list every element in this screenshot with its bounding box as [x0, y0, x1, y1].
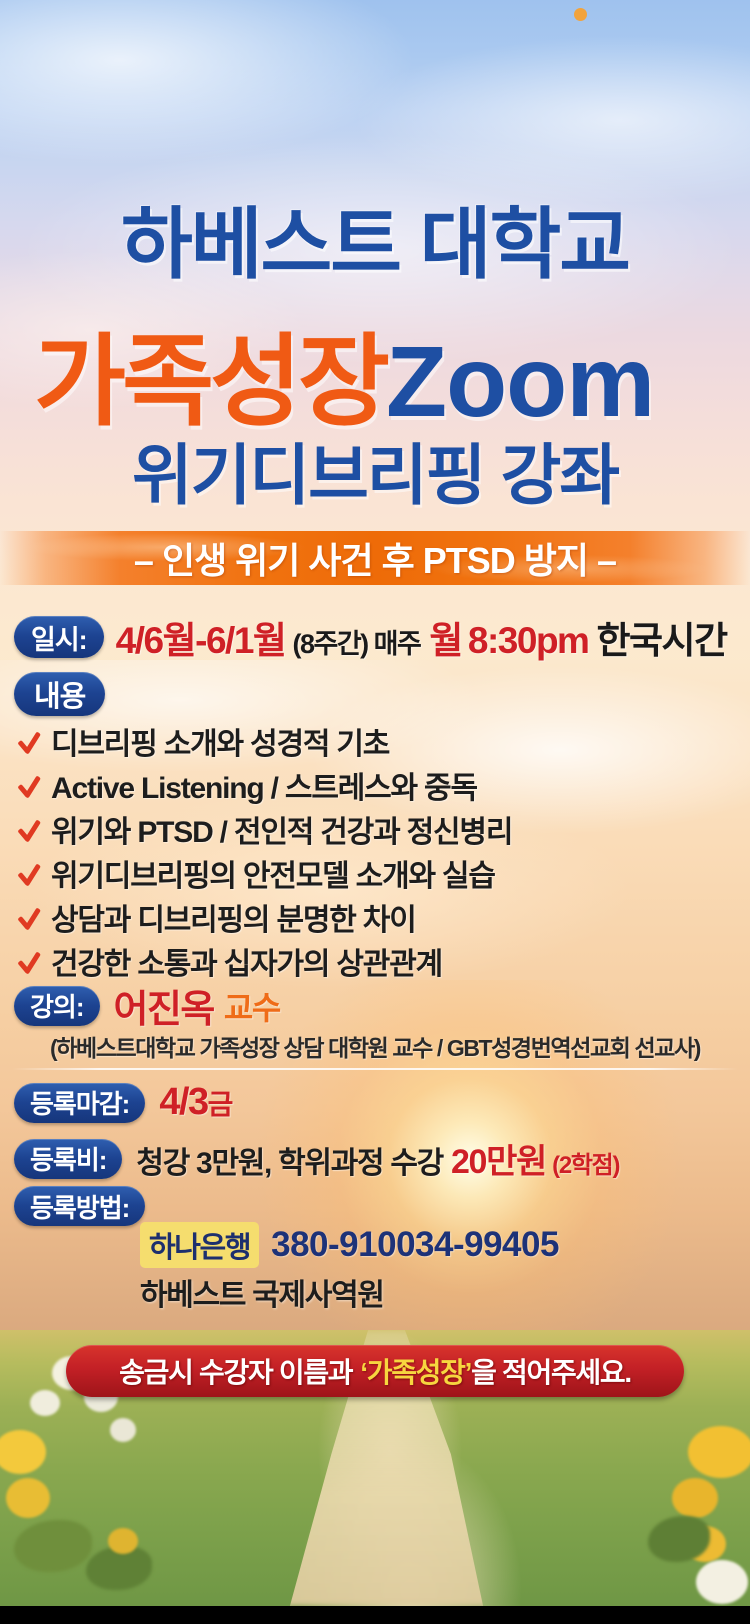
list-item-label: 디브리핑 소개와 성경적 기초	[51, 725, 389, 764]
transfer-notice-banner: 송금시 수강자 이름과‘가족성장’을 적어주세요.	[66, 1345, 684, 1397]
list-item: 위기디브리핑의 안전모델 소개와 실습	[16, 857, 716, 896]
deadline-value: 4/3금	[159, 1081, 232, 1124]
check-icon	[16, 773, 42, 803]
list-item: 디브리핑 소개와 성경적 기초	[16, 725, 716, 764]
fee-credits: (2학점)	[552, 1152, 619, 1179]
list-item: Active Listening / 스트레스와 중독	[16, 769, 716, 808]
schedule-dash: -	[195, 620, 206, 661]
method-row: 등록방법:	[14, 1186, 145, 1226]
content-section-header: 내용	[14, 672, 105, 716]
fee-audit: 청강 3만원, 학위과정 수강	[136, 1147, 443, 1180]
list-item: 상담과 디브리핑의 분명한 차이	[16, 901, 716, 940]
fee-row: 등록비: 청강 3만원, 학위과정 수강20만원(2학점)	[14, 1134, 619, 1183]
notice-prefix: 송금시 수강자 이름과	[119, 1357, 352, 1388]
tagline-text: – 인생 위기 사건 후 PTSD 방지 –	[134, 532, 616, 584]
fee-value: 청강 3만원, 학위과정 수강20만원(2학점)	[136, 1134, 619, 1183]
bank-account-line: 하나은행 380-910034-99405	[140, 1222, 559, 1268]
instructor-title: 교수	[224, 983, 280, 1029]
instructor-name: 어진옥	[114, 978, 214, 1033]
schedule-value: 4/6월-6/1월(8주간) 매주월8:30pm한국시간	[116, 610, 727, 664]
section-divider	[12, 1068, 738, 1070]
deadline-date: 4/3	[159, 1081, 207, 1123]
instructor-credentials: (하베스트대학교 가족성장 상담 대학원 교수 / GBT성경번역선교회 선교사…	[0, 1029, 750, 1063]
deadline-row: 등록마감: 4/3금	[14, 1081, 232, 1124]
list-item-label: 위기와 PTSD / 전인적 건강과 정신병리	[51, 813, 512, 852]
organization-name: 하베스트 국제사역원	[140, 1270, 384, 1314]
notice-suffix: 을 적어주세요.	[471, 1357, 631, 1388]
schedule-duration: (8주간) 매주	[292, 629, 420, 659]
schedule-end: 6/1월	[206, 620, 285, 661]
poster-content: 하베스트 대학교 가족성장Zoom 위기디브리핑 강좌 – 인생 위기 사건 후…	[0, 0, 750, 1624]
bank-account-number: 380-910034-99405	[271, 1225, 559, 1265]
schedule-badge: 일시:	[14, 616, 104, 658]
deadline-badge: 등록마감:	[14, 1083, 145, 1123]
course-subtitle: 위기디브리핑 강좌	[0, 422, 750, 518]
check-icon	[16, 905, 42, 935]
university-title: 하베스트 대학교	[0, 182, 750, 294]
schedule-day: 월	[429, 620, 462, 661]
fee-degree-amount: 20만원	[451, 1143, 546, 1181]
schedule-timezone: 한국시간	[596, 620, 726, 661]
content-list: 디브리핑 소개와 성경적 기초 Active Listening / 스트레스와…	[16, 725, 716, 989]
content-badge: 내용	[14, 672, 105, 716]
schedule-time: 8:30pm	[468, 620, 589, 661]
bank-name: 하나은행	[140, 1222, 259, 1268]
fee-badge: 등록비:	[14, 1139, 122, 1179]
check-icon	[16, 949, 42, 979]
instructor-badge: 강의:	[14, 986, 100, 1026]
deadline-day: 금	[208, 1089, 232, 1120]
instructor-row: 강의: 어진옥 교수	[14, 978, 280, 1033]
poster-canvas: 하베스트 대학교 가족성장Zoom 위기디브리핑 강좌 – 인생 위기 사건 후…	[0, 0, 750, 1624]
schedule-row: 일시: 4/6월-6/1월(8주간) 매주월8:30pm한국시간	[14, 610, 727, 664]
method-badge: 등록방법:	[14, 1186, 145, 1226]
check-icon	[16, 817, 42, 847]
list-item: 위기와 PTSD / 전인적 건강과 정신병리	[16, 813, 716, 852]
transfer-notice-text: 송금시 수강자 이름과‘가족성장’을 적어주세요.	[119, 1351, 631, 1391]
list-item-label: 위기디브리핑의 안전모델 소개와 실습	[51, 857, 495, 896]
list-item-label: Active Listening / 스트레스와 중독	[51, 769, 477, 808]
list-item-label: 상담과 디브리핑의 분명한 차이	[51, 901, 416, 940]
check-icon	[16, 861, 42, 891]
notice-highlight: ‘가족성장’	[360, 1357, 471, 1388]
tagline-band: – 인생 위기 사건 후 PTSD 방지 –	[0, 531, 750, 585]
schedule-start: 4/6월	[116, 620, 195, 661]
check-icon	[16, 729, 42, 759]
